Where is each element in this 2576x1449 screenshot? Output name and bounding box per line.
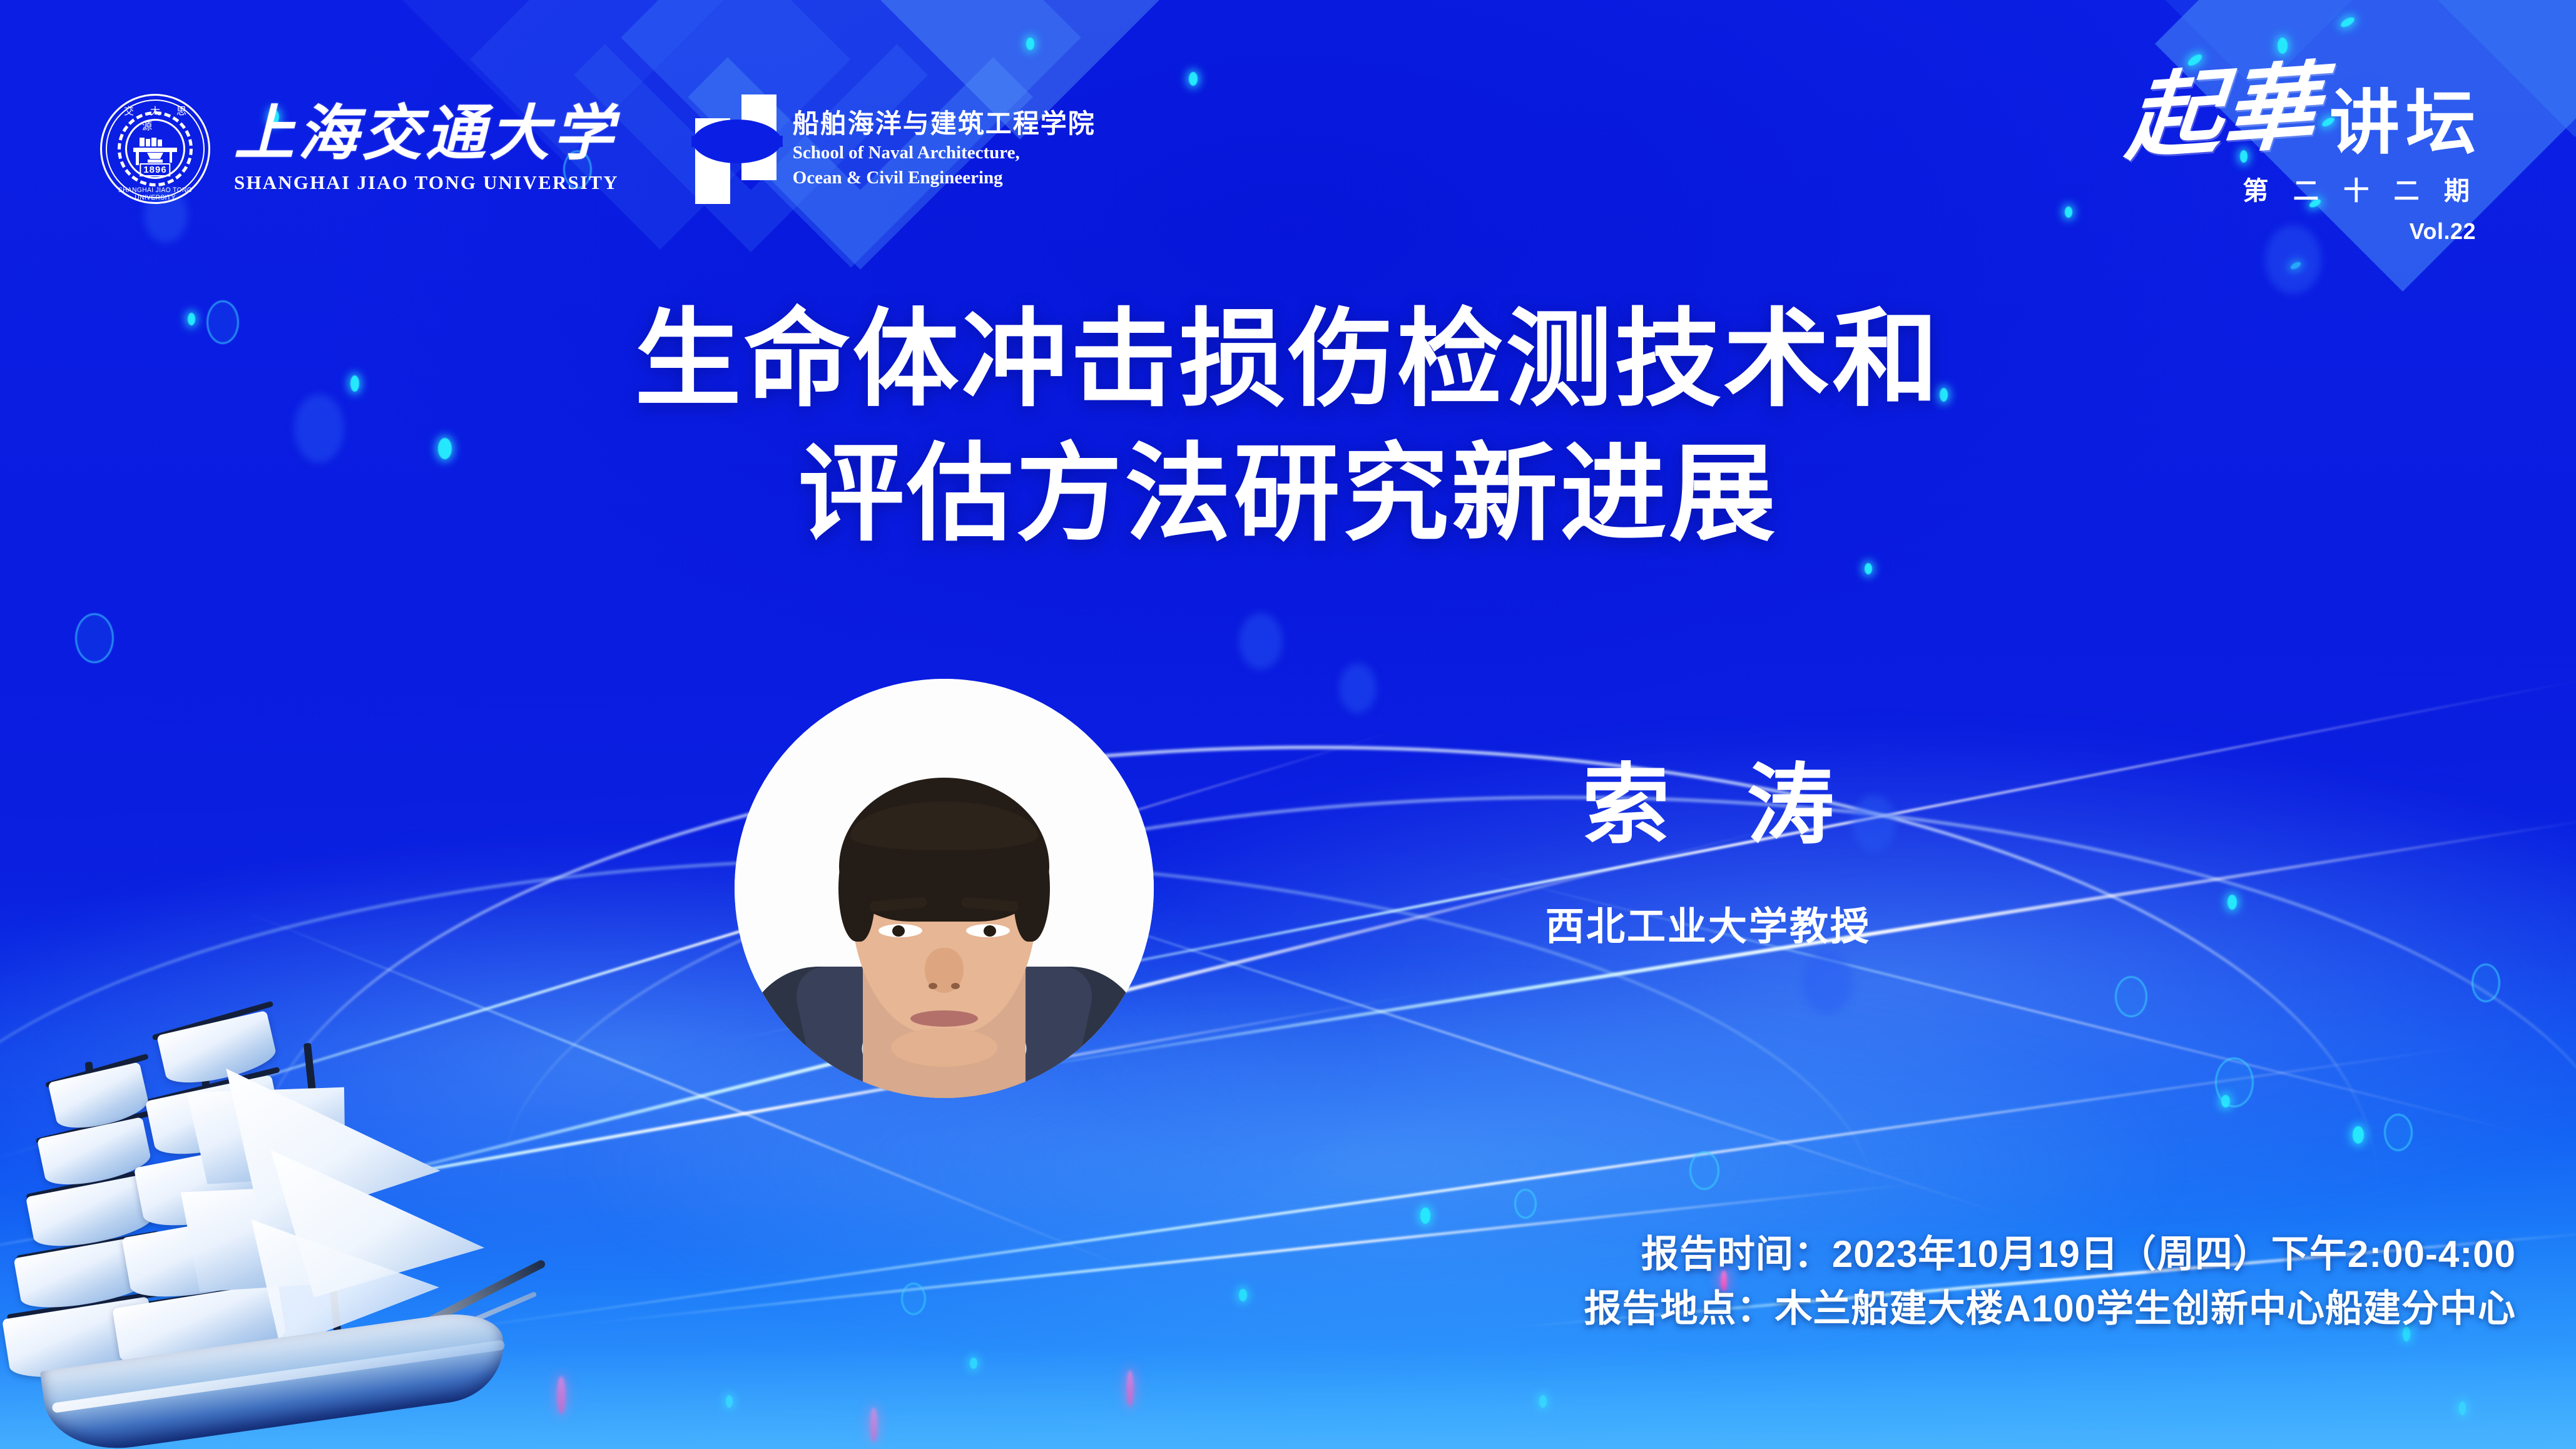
forum-calligraphy: 起華 xyxy=(2123,63,2323,165)
forum-volume: Vol.22 xyxy=(2128,218,2482,245)
portrait-photo xyxy=(735,679,1154,1098)
naoce-mark-icon xyxy=(695,94,776,204)
sjtu-seal-icon: 交大思源 1896 SHANGHAI JIAO TONG UNIVERSITY xyxy=(100,94,210,204)
speaker-name: 索 涛 xyxy=(1395,757,2021,853)
event-place: 报告地点：木兰船建大楼A100学生创新中心船建分中心 xyxy=(1584,1281,2516,1336)
lecture-title: 生命体冲击损伤检测技术和 评估方法研究新进展 xyxy=(0,294,2576,561)
event-time: 报告时间：2023年10月19日（周四）下午2:00-4:00 xyxy=(1584,1227,2516,1282)
seal-en-ring-text: SHANGHAI JIAO TONG UNIVERSITY xyxy=(104,186,206,201)
school-name-en-line2: Ocean & Civil Engineering xyxy=(793,167,1096,188)
lecture-poster: 交大思源 1896 SHANGHAI JIAO TONG UNIVERSITY … xyxy=(0,0,2576,1449)
sjtu-name-en: SHANGHAI JIAO TONG UNIVERSITY xyxy=(234,171,619,194)
title-line-2: 评估方法研究新进展 xyxy=(0,429,2576,561)
forum-brand: 起華 讲坛 第 二 十 二 期 Vol.22 xyxy=(2128,69,2482,245)
speaker-block: 索 涛 西北工业大学教授 xyxy=(1395,757,2021,951)
event-info: 报告时间：2023年10月19日（周四）下午2:00-4:00 报告地点：木兰船… xyxy=(1584,1227,2516,1336)
poster-header: 交大思源 1896 SHANGHAI JIAO TONG UNIVERSITY … xyxy=(0,0,2576,206)
title-line-1: 生命体冲击损伤检测技术和 xyxy=(0,294,2576,426)
logo-row: 交大思源 1896 SHANGHAI JIAO TONG UNIVERSITY … xyxy=(100,94,1096,204)
sjtu-name-cn: 上海交通大学 xyxy=(234,104,619,164)
seal-year: 1896 xyxy=(140,163,170,176)
school-name-en-line1: School of Naval Architecture, xyxy=(793,142,1096,163)
seal-cn-text: 交大思源 xyxy=(100,103,210,133)
sailing-ship-illustration xyxy=(6,974,569,1449)
school-logo-block: 船舶海洋与建筑工程学院 School of Naval Architecture… xyxy=(695,94,1096,204)
forum-name: 讲坛 xyxy=(2329,88,2482,158)
sjtu-wordmark: 上海交通大学 SHANGHAI JIAO TONG UNIVERSITY xyxy=(234,104,619,194)
speaker-portrait xyxy=(735,679,1154,1098)
speaker-role: 西北工业大学教授 xyxy=(1395,895,2021,951)
school-wordmark: 船舶海洋与建筑工程学院 School of Naval Architecture… xyxy=(793,109,1096,189)
school-name-cn: 船舶海洋与建筑工程学院 xyxy=(793,109,1096,138)
forum-issue: 第 二 十 二 期 xyxy=(2128,170,2482,207)
